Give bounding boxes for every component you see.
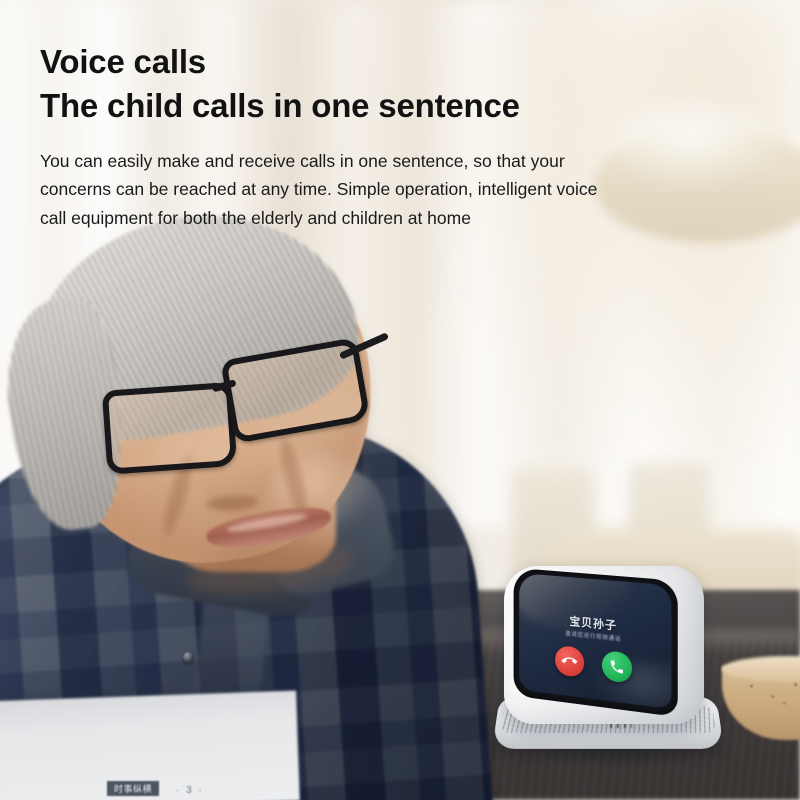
phone-icon <box>609 658 625 676</box>
promo-copy: Voice calls The child calls in one sente… <box>40 40 640 232</box>
promo-banner: 时事纵横 · 3 · 宝贝孙子 邀请您进行视频通话 <box>0 0 800 800</box>
newspaper-section-label: 时事纵横 <box>108 782 158 795</box>
smart-display-device[interactable]: 宝贝孙子 邀请您进行视频通话 <box>496 566 724 758</box>
promo-description: You can easily make and receive calls in… <box>40 147 625 232</box>
newspaper-page-number: · 3 · <box>176 785 204 796</box>
headline-line-1: Voice calls <box>40 43 206 80</box>
shirt-button <box>183 652 194 663</box>
phone-hangup-icon <box>562 653 578 671</box>
eyeglass-lens-left <box>102 382 238 475</box>
accept-call-button[interactable] <box>602 650 632 684</box>
decline-call-button[interactable] <box>555 645 584 678</box>
device-screen[interactable]: 宝贝孙子 邀请您进行视频通话 <box>519 573 671 709</box>
page-title: Voice calls The child calls in one sente… <box>40 40 640 127</box>
headline-line-2: The child calls in one sentence <box>40 84 640 128</box>
